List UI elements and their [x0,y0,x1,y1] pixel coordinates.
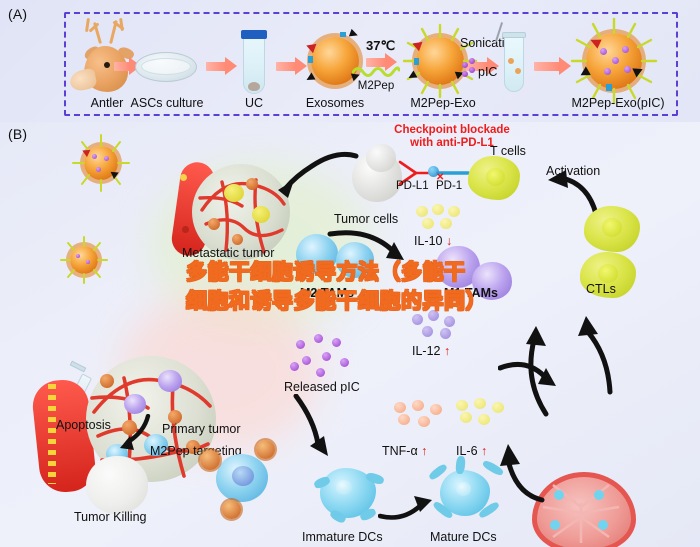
arrow-asc-to-uc [206,62,226,71]
primary-tumor-vessel-dots [48,384,56,484]
arrow-uc-to-exosome [276,62,296,71]
immature-dc-nucleus [336,480,352,495]
sonication-content-dot [508,58,514,64]
final-pic-cargo-1 [600,48,607,55]
arrow-lymph-to-ctl-1 [520,310,580,420]
arrow-lymph-to-ctl-2 [574,306,622,398]
label-tumor-cells: Tumor cells [334,212,398,226]
label-apoptosis: Apoptosis [56,418,111,432]
m2-tam-cell-1 [296,234,338,274]
mature-dc-nucleus [456,482,471,496]
sonication-content-dot-2 [515,68,521,74]
pic-label: pIC [478,65,497,79]
caption-asc-culture: ASCs culture [124,96,210,110]
final-pic-cargo-3 [604,68,611,75]
petri-dish-lid [141,58,191,75]
targeted-m2-tam-nucleus [232,466,254,486]
scientific-figure: (A) Antler ASCs culture UC [0,0,700,547]
caption-m2pep-exo: M2Pep-Exo [396,96,490,110]
exosome-marker-blue-2 [340,32,346,37]
primary-tumor-m1-cell-2 [124,394,146,414]
exosome-marker-blue [308,56,313,63]
label-m2pep-targeting: M2Pep targeting [150,444,242,458]
label-m2-tams: M2 TAMs [300,286,354,300]
metastatic-dot-1 [180,174,187,181]
label-il-10: IL-10 ↓ [414,234,452,248]
label-mature-dcs: Mature DCs [430,530,497,544]
deer-eye [104,62,110,68]
arrow-apoptosis [110,414,154,458]
arrow-immature-to-mature-dc [378,494,440,528]
sonication-tube-icon [504,36,524,92]
label-tumor-killing: Tumor Killing [74,510,146,524]
il-6-trend-icon: ↑ [481,444,487,458]
arrow-mature-dc-to-cytokines [498,440,550,506]
m2pep-squiggle-icon [352,64,400,78]
label-pd-1: PD-1 [436,180,462,192]
arrow-tumor-to-metastatic [276,150,360,202]
final-pic-cargo-2 [622,46,629,53]
metastatic-exosome-3 [232,234,243,245]
arrow-to-final-product [534,62,560,71]
label-released-pic: Released pIC [284,380,360,394]
metastatic-exosome-2 [246,178,258,190]
panel-a-label: (A) [8,6,27,22]
panel-b-label: (B) [8,126,27,142]
label-pd-l1: PD-L1 [396,180,429,192]
m2pep-exosome-marker-blue [414,58,419,65]
panel-b: (B) [0,122,700,547]
t-cell-2-nucleus [602,218,622,237]
metastatic-exosome-1 [208,218,220,230]
tnf-alpha-trend-icon: ↑ [421,444,427,458]
label-tnf-alpha: TNF-α ↑ [382,444,427,458]
panel-a: (A) Antler ASCs culture UC [0,0,700,122]
t-cell-3-nucleus [598,264,618,283]
m2pep-targeting-exosome-2 [256,440,275,459]
label-ctls: CTLs [586,282,616,296]
m2pep-targeting-exosome-3 [222,500,241,519]
il-12-trend-icon: ↑ [444,344,450,358]
temperature-label: 37℃ [366,38,395,54]
sonication-tube-cap [502,32,526,38]
t-cell-1-nucleus [486,168,505,186]
metastatic-cell-yellow-2 [252,206,270,223]
m2pep-targeting-exosome-1 [200,450,220,470]
arrow-antler-to-asc [114,62,130,71]
m2pep-spikes-icon [400,21,480,101]
primary-tumor-m1-cell [158,370,182,392]
injected-exosome-spikes-icon [70,132,132,194]
caption-m2pep-exo-pic: M2Pep-Exo(pIC) [556,96,680,110]
apoptotic-tumor-cell [86,456,148,514]
label-il-12: IL-12 ↑ [412,344,450,358]
label-m2pep: M2Pep [348,80,404,92]
injected-exosome-small-spikes-icon [58,234,110,286]
tube-cap-icon [241,30,267,39]
final-marker-blue [606,84,612,91]
metastatic-cell-yellow-1 [224,184,244,202]
label-m1-tams: M1 TAMs [444,286,498,300]
caption-exosomes: Exosomes [300,96,370,110]
tube-pellet [248,82,260,91]
label-metastatic-tumor: Metastatic tumor [182,246,274,260]
metastatic-dot-2 [182,226,189,233]
final-pic-cargo-4 [624,66,631,73]
label-primary-tumor: Primary tumor [162,422,240,436]
m2-tam-cell-2 [336,242,374,278]
caption-uc: UC [230,96,278,110]
final-pic-cargo-5 [612,57,619,64]
label-immature-dcs: Immature DCs [302,530,383,544]
primary-tumor-exosome-4 [100,374,114,388]
arrow-pic-to-immature-dc [288,394,348,466]
